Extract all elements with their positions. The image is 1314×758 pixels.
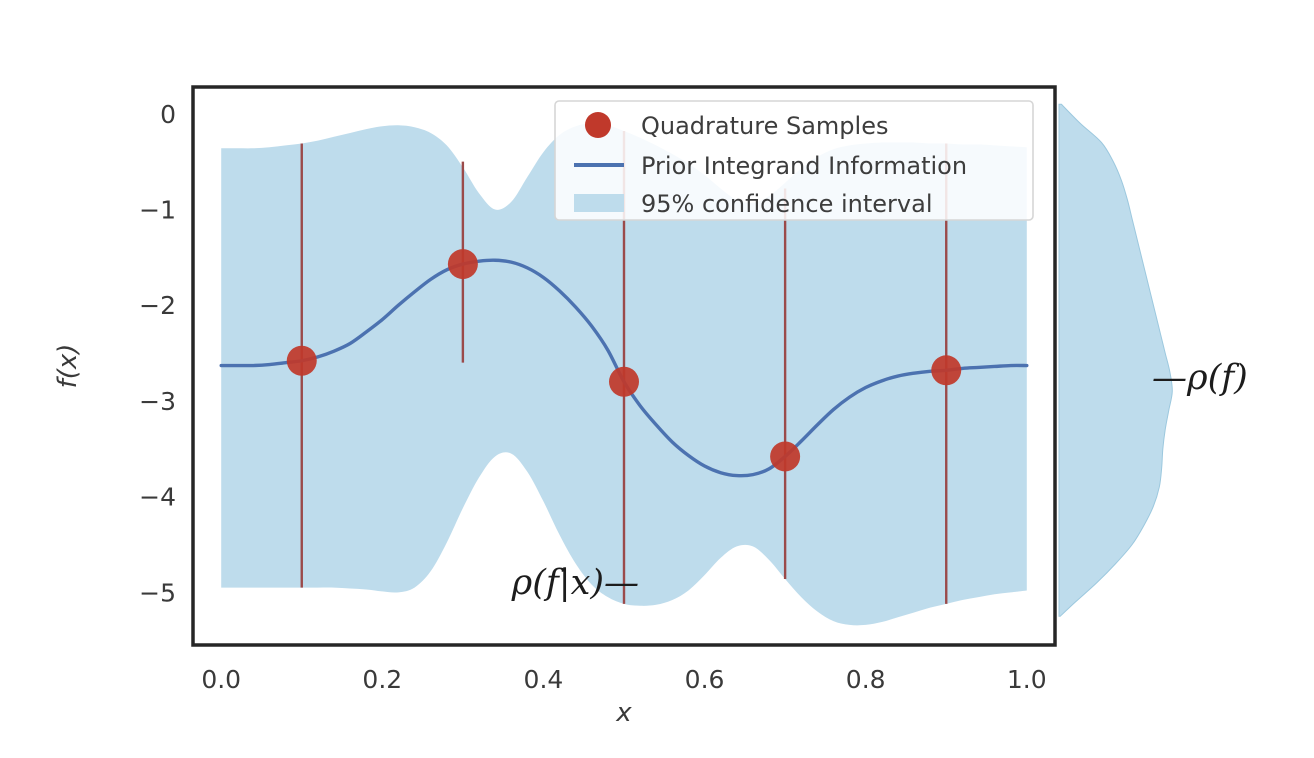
annotation-rho-f: —ρ(f) — [1152, 358, 1248, 398]
quadrature-sample-point[interactable] — [931, 355, 961, 385]
y-tick-label: 0 — [160, 100, 176, 129]
x-tick-label: 0.2 — [362, 665, 402, 694]
quadrature-sample-point[interactable] — [609, 367, 639, 397]
x-tick-label: 1.0 — [1007, 665, 1047, 694]
y-tick-label: −1 — [139, 196, 176, 225]
quadrature-sample-point[interactable] — [287, 346, 317, 376]
y-tick-label: −2 — [139, 291, 176, 320]
legend-label-confidence-interval: 95% confidence interval — [641, 190, 932, 218]
x-tick-label: 0.8 — [846, 665, 886, 694]
x-axis-title: x — [615, 698, 632, 728]
x-axis-tick-labels: 0.00.20.40.60.81.0 — [201, 665, 1046, 694]
figure-container: 0.00.20.40.60.81.0 0−1−2−3−4−5 x f(x) ρ(… — [0, 0, 1314, 758]
y-axis-tick-labels: 0−1−2−3−4−5 — [139, 100, 176, 608]
quadrature-prior-chart: 0.00.20.40.60.81.0 0−1−2−3−4−5 x f(x) ρ(… — [0, 0, 1314, 758]
legend-label-prior-integrand: Prior Integrand Information — [641, 152, 967, 180]
legend-band-icon — [574, 194, 624, 212]
annotation-rho-f-given-x: ρ(f|x)— — [511, 563, 639, 603]
quadrature-sample-point[interactable] — [448, 249, 478, 279]
legend-marker-icon — [585, 112, 611, 138]
x-tick-label: 0.4 — [524, 665, 564, 694]
y-tick-label: −4 — [139, 483, 176, 512]
legend-label-quadrature-samples: Quadrature Samples — [641, 112, 888, 140]
x-tick-label: 0.0 — [201, 665, 241, 694]
y-tick-label: −3 — [139, 387, 176, 416]
quadrature-sample-point[interactable] — [770, 441, 800, 471]
x-tick-label: 0.6 — [685, 665, 725, 694]
y-tick-label: −5 — [139, 578, 176, 607]
y-axis-title: f(x) — [53, 344, 83, 389]
chart-legend[interactable]: Quadrature Samples Prior Integrand Infor… — [555, 101, 1033, 220]
